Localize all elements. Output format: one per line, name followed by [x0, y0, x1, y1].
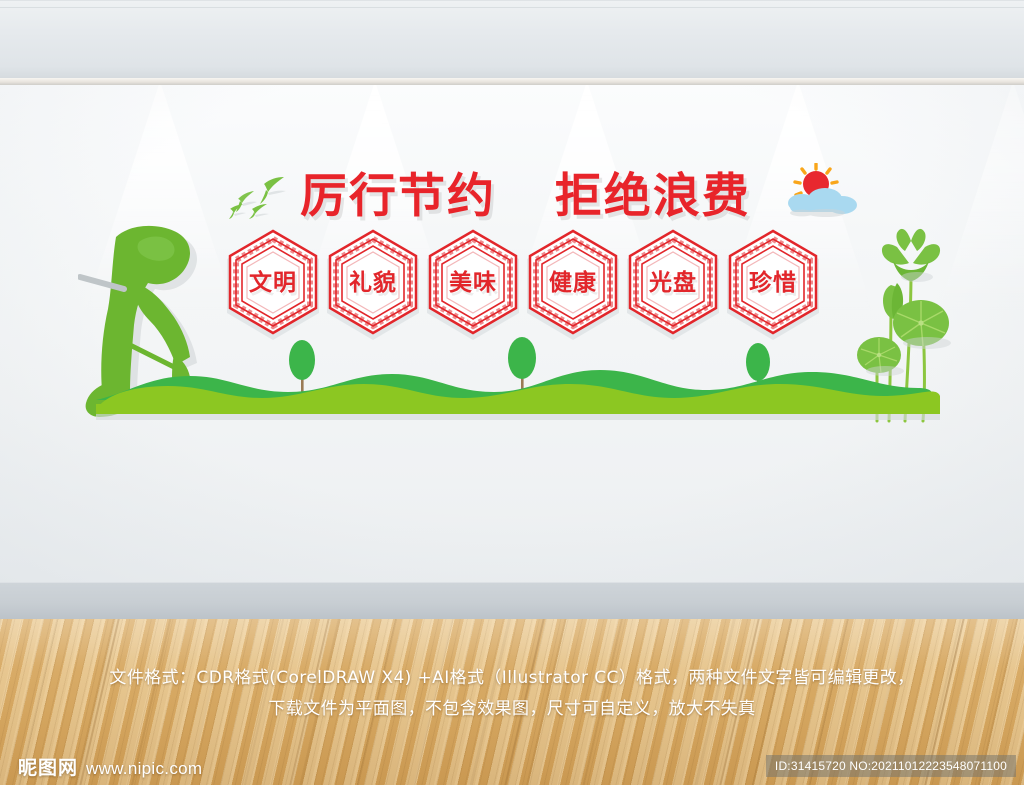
watermark-url: www.nipic.com: [86, 759, 202, 779]
headline-right: 拒绝浪费: [555, 169, 751, 224]
page-title: 厉行节约 拒绝浪费: [300, 157, 751, 226]
sun-cloud-icon: [782, 163, 862, 226]
watermark-logo: 昵图网: [18, 753, 78, 780]
green-hills-illustration: [0, 300, 1024, 420]
poster-screenshot: 厉行节约 拒绝浪费: [0, 0, 1024, 785]
ceiling-seam: [0, 7, 1024, 8]
file-format-caption: 文件格式：CDR格式(CorelDRAW X4) +AI格式（Illustrat…: [0, 663, 1024, 725]
wall-artwork: 厉行节约 拒绝浪费: [0, 85, 1024, 415]
headline-left: 厉行节约: [300, 169, 496, 224]
caption-line-2: 下载文件为平面图，不包含效果图，尺寸可自定义，放大不失真: [0, 694, 1024, 725]
flying-birds-icon: [226, 173, 294, 224]
site-watermark: 昵图网 www.nipic.com: [18, 753, 202, 780]
wall-baseboard: [0, 582, 1024, 619]
caption-line-1: 文件格式：CDR格式(CorelDRAW X4) +AI格式（Illustrat…: [0, 663, 1024, 694]
ceiling: [0, 0, 1024, 78]
asset-id-badge: ID:31415720 NO:20211012223548071100: [766, 755, 1016, 777]
ceiling-lip: [0, 78, 1024, 85]
